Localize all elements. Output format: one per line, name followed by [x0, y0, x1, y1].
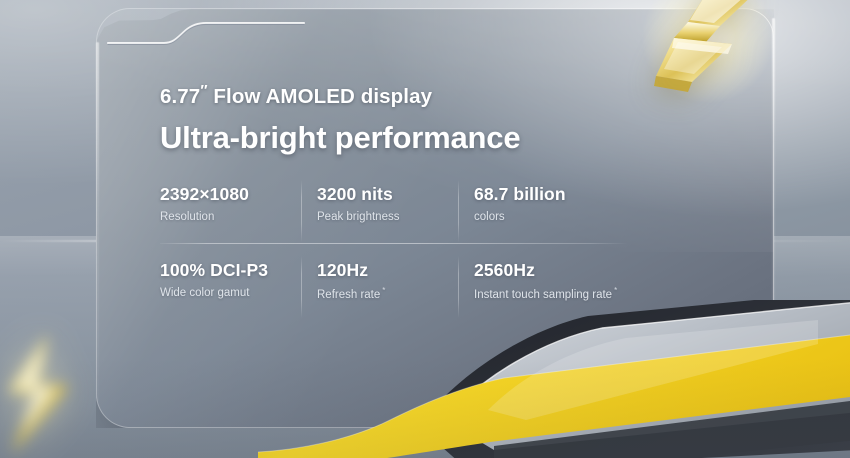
eyebrow-size: 6.77 [160, 85, 200, 108]
spec-value: 100% DCI-P3 [160, 260, 303, 280]
panel-headline: Ultra-bright performance [160, 121, 680, 156]
phone-render [258, 300, 850, 458]
spec-table: 2392×1080 Resolution 3200 nits Peak brig… [160, 184, 660, 303]
spec-value: 68.7 billion [474, 184, 646, 204]
spec-label-text: colors [474, 211, 505, 223]
spec-cell: 3200 nits Peak brightness [317, 184, 474, 226]
spec-value: 3200 nits [317, 184, 460, 204]
spec-cell: 2392×1080 Resolution [160, 184, 317, 226]
eyebrow-inch-mark: ″ [200, 82, 207, 99]
spec-value: 2392×1080 [160, 184, 303, 204]
spec-footnote-marker: * [614, 286, 617, 295]
panel-heading-block: 6.77″ Flow AMOLED display Ultra-bright p… [160, 86, 680, 155]
spec-label: colors [474, 210, 646, 226]
spec-cell: 100% DCI-P3 Wide color gamut [160, 260, 317, 303]
spec-value: 120Hz [317, 260, 460, 280]
lightning-bolt-icon [648, 0, 766, 98]
spec-label: Resolution [160, 210, 303, 226]
spec-row-2: 100% DCI-P3 Wide color gamut 120Hz Refre… [160, 260, 660, 303]
spec-cell: 2560Hz Instant touch sampling rate* [474, 260, 660, 303]
panel-eyebrow: 6.77″ Flow AMOLED display [160, 86, 680, 109]
lightning-bolt-blurred-icon [0, 330, 90, 458]
spec-label: Wide color gamut [160, 286, 303, 302]
spec-label: Peak brightness [317, 210, 460, 226]
spec-footnote-marker: * [382, 286, 385, 295]
spec-cell: 68.7 billion colors [474, 184, 660, 226]
promo-stage: 6.77″ Flow AMOLED display Ultra-bright p… [0, 0, 850, 458]
spec-divider-horizontal [160, 243, 628, 244]
spec-value: 2560Hz [474, 260, 646, 280]
spec-label-text: Instant touch sampling rate [474, 289, 612, 301]
spec-label-text: Resolution [160, 211, 214, 223]
spec-cell: 120Hz Refresh rate* [317, 260, 474, 303]
spec-label-text: Refresh rate [317, 289, 380, 301]
spec-row-1: 2392×1080 Resolution 3200 nits Peak brig… [160, 184, 660, 226]
spec-label-text: Wide color gamut [160, 287, 249, 299]
spec-label-text: Peak brightness [317, 211, 399, 223]
eyebrow-rest: Flow AMOLED display [208, 85, 432, 108]
